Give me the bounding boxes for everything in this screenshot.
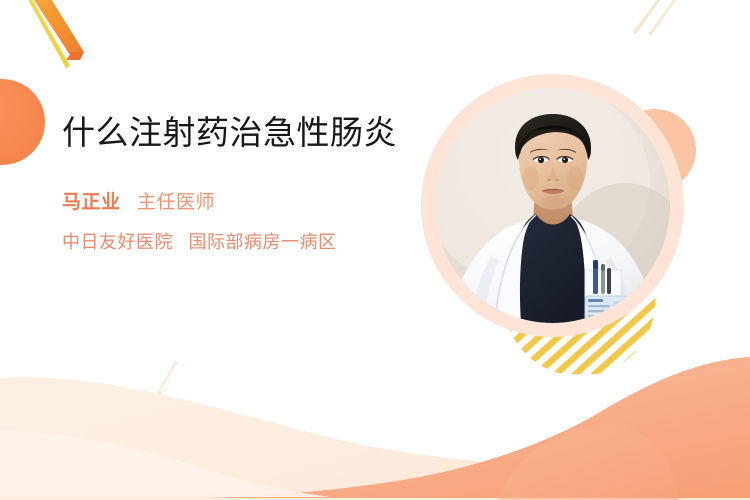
doctor-rank: 主任医师 [137,192,215,213]
faint-diagonal-line-bottom-left [157,361,179,395]
faint-diagonal-lines-top-right [633,0,679,36]
portrait-photo-circle [435,88,670,323]
doctor-name: 马正业 [62,192,121,213]
cover-text-block: 什么注射药治急性肠炎 马正业 主任医师 中日友好医院 国际部病房一病区 [62,112,422,254]
cheek-shadow-left [523,166,539,190]
faint-diagonal-line-a [633,0,663,34]
department-name: 国际部病房一病区 [189,232,337,252]
faint-slash-inner [160,364,178,392]
article-cover-card: 什么注射药治急性肠炎 马正业 主任医师 中日友好医院 国际部病房一病区 [0,0,750,500]
orange-circle-left [0,79,45,165]
page-title: 什么注射药治急性肠炎 [62,112,422,154]
hospital-name: 中日友好医院 [62,232,173,252]
chin-shadow [541,196,565,208]
cheek-shadow-right [567,166,583,190]
doctor-portrait [435,88,670,323]
faint-diagonal-line-b [648,0,679,36]
nostril-left [547,179,550,181]
orange-diagonal-stripe-tip [66,52,84,60]
doctor-credentials: 马正业 主任医师 [62,190,422,217]
doctor-affiliation: 中日友好医院 国际部病房一病区 [62,230,422,254]
nostril-right [555,179,558,181]
doctor-portrait-icon [435,88,670,323]
